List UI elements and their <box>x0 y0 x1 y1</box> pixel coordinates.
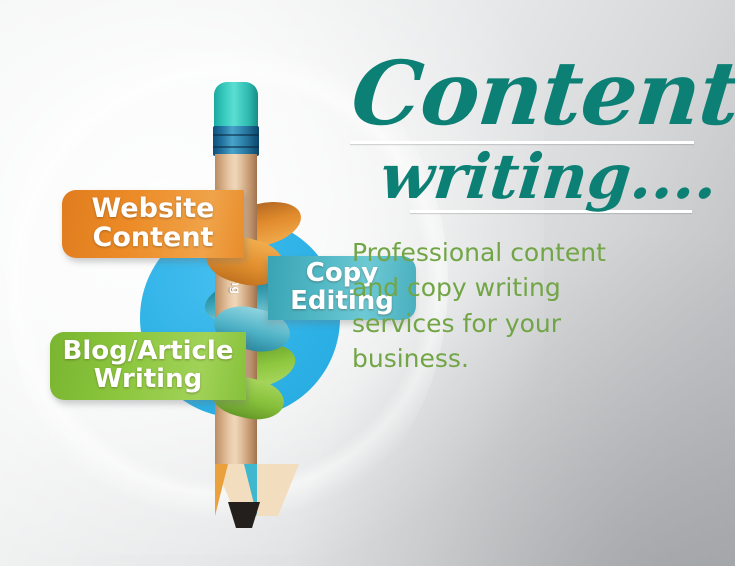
service-label-blog-article-writing-line1: Blog/Article <box>63 338 234 366</box>
subcopy-text: Professional content and copy writing se… <box>352 235 642 377</box>
pencil-eraser <box>214 82 258 130</box>
copy-column: Content writing.... Professional content… <box>348 52 720 377</box>
pencil-ferrule <box>213 126 259 156</box>
service-label-website-content-line1: Website <box>91 195 214 224</box>
headline-primary: Content <box>348 52 729 135</box>
service-label-blog-article-writing-line2: Writing <box>63 366 234 394</box>
pencil-graphic: Content Writing Website Content Copy Edi… <box>0 0 400 566</box>
service-label-website-content[interactable]: Website Content <box>62 190 244 258</box>
service-label-blog-article-writing[interactable]: Blog/Article Writing <box>50 332 246 400</box>
poster-canvas: Content Writing Website Content Copy Edi… <box>0 0 735 566</box>
pencil-graphite-point <box>228 502 260 528</box>
headline-secondary: writing.... <box>348 146 727 208</box>
pencil-tip-orange-facet <box>215 464 228 516</box>
service-label-website-content-line2: Content <box>91 224 214 253</box>
pencil: Content Writing <box>212 82 260 502</box>
